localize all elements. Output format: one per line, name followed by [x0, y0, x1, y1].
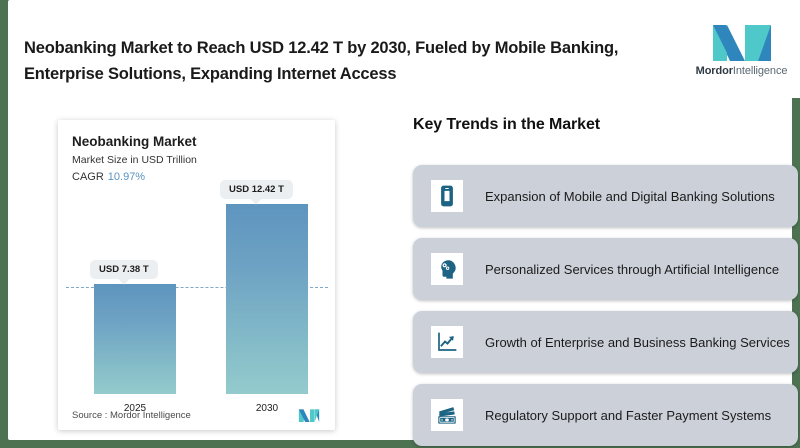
- bar-value-label-2025: USD 7.38 T: [90, 260, 158, 279]
- brand-name-light: Intelligence: [733, 65, 787, 77]
- ai-head-gears-icon: [431, 253, 463, 285]
- trends-heading: Key Trends in the Market: [413, 116, 600, 134]
- chart-source-logo-icon: [297, 408, 321, 422]
- brand-name-bold: Mordor: [696, 65, 733, 77]
- bar-2030: [226, 204, 308, 394]
- chart-card: Neobanking Market Market Size in USD Tri…: [58, 120, 335, 430]
- trend-card-label: Personalized Services through Artificial…: [485, 260, 779, 279]
- page-headline: Neobanking Market to Reach USD 12.42 T b…: [24, 35, 664, 87]
- brand-logo-text: MordorIntelligence: [696, 65, 788, 77]
- trend-card-mobile[interactable]: Expansion of Mobile and Digital Banking …: [413, 165, 798, 227]
- brand-logo: MordorIntelligence: [683, 0, 800, 98]
- cagr-value: 10.97%: [108, 171, 145, 183]
- trend-card-label: Growth of Enterprise and Business Bankin…: [485, 333, 790, 352]
- bar-value-label-2030: USD 12.42 T: [220, 180, 293, 199]
- chart-cagr: CAGR10.97%: [72, 171, 145, 183]
- chart-source-text: Source : Mordor Intelligence: [72, 410, 191, 421]
- trend-card-regulatory[interactable]: Regulatory Support and Faster Payment Sy…: [413, 384, 798, 446]
- trend-card-label: Expansion of Mobile and Digital Banking …: [485, 187, 775, 206]
- growth-chart-icon: [431, 326, 463, 358]
- main-canvas: Neobanking Market to Reach USD 12.42 T b…: [8, 0, 792, 440]
- mordor-logo-mark: [711, 21, 773, 61]
- trend-card-ai[interactable]: Personalized Services through Artificial…: [413, 238, 798, 300]
- bar-2025: [94, 284, 176, 394]
- chart-subtitle: Market Size in USD Trillion: [72, 154, 197, 166]
- bar-chart-plot: USD 7.38 T USD 12.42 T 2025 2030: [58, 190, 335, 430]
- mobile-phone-icon: [431, 180, 463, 212]
- banknotes-icon: [431, 399, 463, 431]
- x-axis-tick-2030: 2030: [226, 403, 308, 414]
- trend-card-growth[interactable]: Growth of Enterprise and Business Bankin…: [413, 311, 798, 373]
- chart-title: Neobanking Market: [72, 134, 197, 149]
- cagr-label: CAGR: [72, 171, 104, 183]
- trend-list: Expansion of Mobile and Digital Banking …: [413, 165, 798, 448]
- trend-card-label: Regulatory Support and Faster Payment Sy…: [485, 406, 771, 425]
